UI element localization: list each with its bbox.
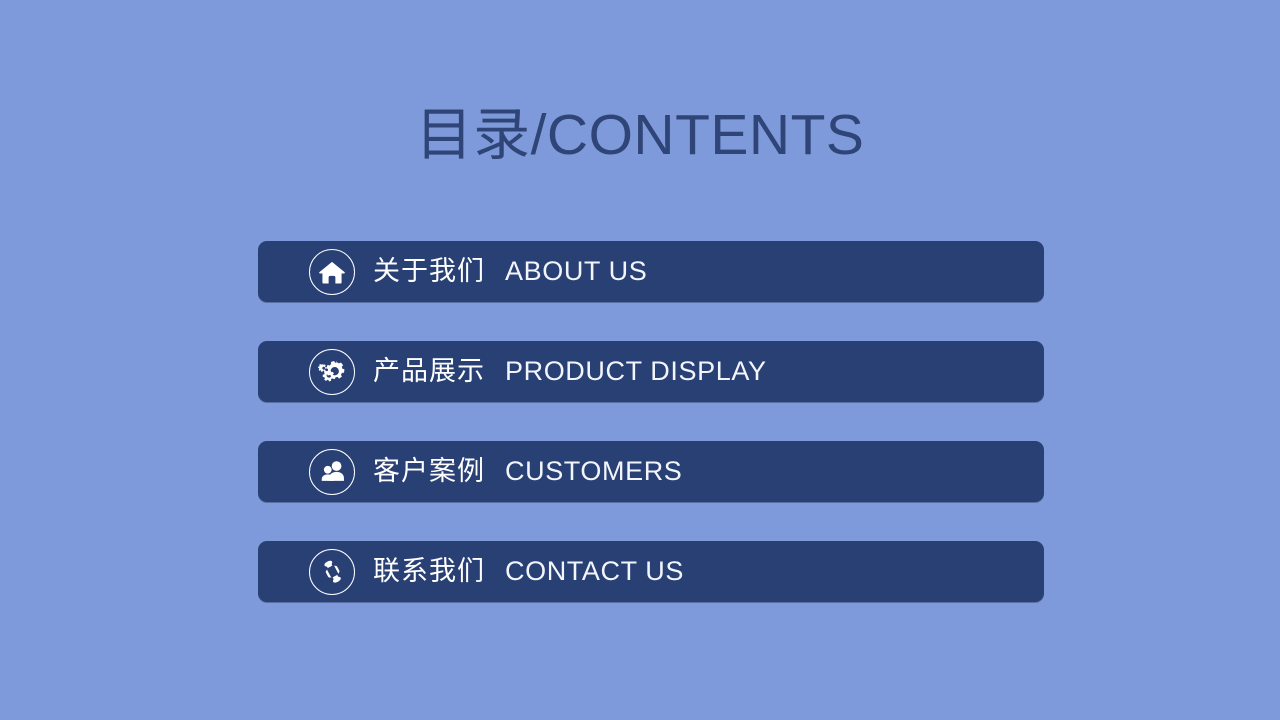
people-icon — [309, 449, 355, 495]
gears-icon — [309, 349, 355, 395]
menu-item-labels: 关于我们 ABOUT US — [373, 256, 647, 287]
contents-menu: 关于我们 ABOUT US 产品展示 PRODUCT DISPLAY — [258, 241, 1044, 602]
menu-item-labels: 客户案例 CUSTOMERS — [373, 456, 682, 487]
contents-slide: 目录/CONTENTS 关于我们 ABOUT US — [0, 0, 1280, 720]
menu-item-label-cn: 关于我们 — [373, 257, 485, 287]
menu-item-about-us[interactable]: 关于我们 ABOUT US — [258, 241, 1044, 302]
menu-item-labels: 联系我们 CONTACT US — [373, 556, 684, 587]
page-title: 目录/CONTENTS — [0, 99, 1280, 171]
menu-item-label-en: PRODUCT DISPLAY — [505, 356, 767, 386]
menu-item-label-cn: 产品展示 — [373, 357, 485, 387]
menu-item-customers[interactable]: 客户案例 CUSTOMERS — [258, 441, 1044, 502]
menu-item-label-en: CONTACT US — [505, 556, 684, 586]
menu-item-label-cn: 客户案例 — [373, 457, 485, 487]
phone-icon — [309, 549, 355, 595]
menu-item-labels: 产品展示 PRODUCT DISPLAY — [373, 356, 767, 387]
home-icon — [309, 249, 355, 295]
menu-item-contact-us[interactable]: 联系我们 CONTACT US — [258, 541, 1044, 602]
menu-item-label-en: ABOUT US — [505, 256, 647, 286]
menu-item-label-en: CUSTOMERS — [505, 456, 682, 486]
menu-item-product-display[interactable]: 产品展示 PRODUCT DISPLAY — [258, 341, 1044, 402]
menu-item-label-cn: 联系我们 — [373, 557, 485, 587]
